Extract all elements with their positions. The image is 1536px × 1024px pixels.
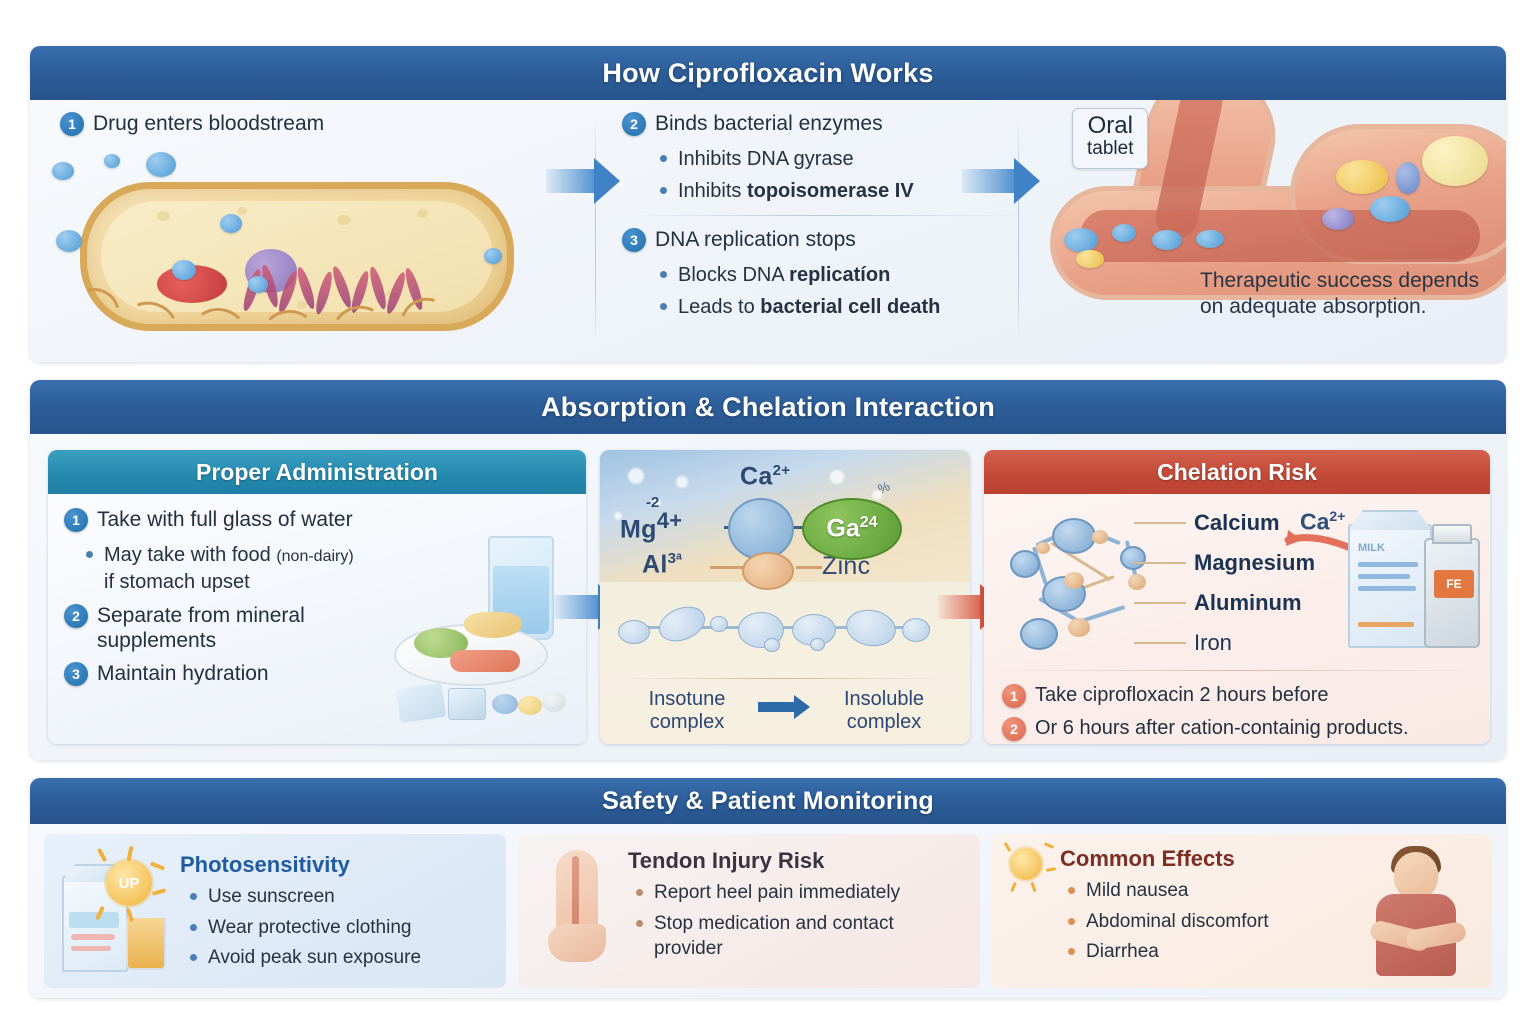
proper-admin-body: 1 Take with full glass of water May take… [48, 494, 586, 744]
drug-particle [56, 230, 82, 252]
pill-icon [492, 694, 518, 714]
chelation-risk-header: Chelation Risk [984, 450, 1490, 494]
tendon-bullets: Report heel pain immediately Stop medica… [636, 880, 966, 967]
panel1-body: 1 Drug enters bloodstream [30, 100, 1506, 362]
card-chelation-risk: Chelation Risk [984, 450, 1490, 744]
proper-admin-title: Proper Administration [196, 459, 438, 486]
arrow-step2-to-gut [962, 158, 1040, 204]
patient-illustration [1364, 842, 1468, 976]
step-2-text: Binds bacterial enzymes [655, 112, 883, 137]
panel-absorption-chelation: Absorption & Chelation Interaction Prope… [30, 380, 1506, 760]
step-2-row: 2 Binds bacterial enzymes [622, 112, 1022, 137]
sun-small-icon [1010, 848, 1042, 880]
card-photosensitivity: UP Photosensitivity Use sunscreen Wear p… [44, 834, 506, 988]
admin-1-text: Take with full glass of water [97, 508, 353, 533]
panel-how-ciprofloxacin-works: How Ciprofloxacin Works 1 Drug enters bl… [30, 46, 1506, 362]
admin-item-3: 3 Maintain hydration [64, 662, 404, 687]
ion-label-aluminum: Al3ᵃ [642, 550, 682, 579]
patient-head [1394, 852, 1438, 900]
tendon-title: Tendon Injury Risk [628, 848, 824, 874]
bacterium-illustration [52, 152, 532, 342]
common-effects-title: Common Effects [1060, 846, 1235, 872]
list-item: May take with food (non-dairy) if stomac… [86, 542, 404, 596]
drug-particle [146, 152, 176, 177]
absorption-caption: Therapeutic success depends on adequate … [1200, 268, 1500, 319]
label-insotune-complex: Insotune complex [622, 688, 752, 734]
list-item: Wear protective clothing [190, 915, 490, 941]
step-3-bullet-list: Blocks DNA replicatíon Leads to bacteria… [622, 262, 1022, 321]
drug-particle [248, 276, 268, 293]
panel3-body: UP Photosensitivity Use sunscreen Wear p… [30, 824, 1506, 998]
chelation-risk-title: Chelation Risk [1157, 459, 1317, 486]
proper-admin-header: Proper Administration [48, 450, 586, 494]
admin-item-2: 2 Separate from mineral supplements [64, 604, 404, 654]
sub-bullet-paren: (non-dairy) [276, 548, 353, 565]
admin-1-badge: 1 [64, 508, 88, 532]
risk-2-text: Or 6 hours after cation-containig produc… [1035, 717, 1409, 741]
admin-3-badge: 3 [64, 662, 88, 686]
arrow-complex-transform [758, 696, 814, 718]
step-1-row: 1 Drug enters bloodstream [60, 112, 580, 137]
step-2-badge: 2 [622, 112, 646, 136]
ion-label-gallium: Ga24 [826, 514, 877, 543]
step-3-text: DNA replication stops [655, 228, 856, 253]
panel1-column-enzymes: 2 Binds bacterial enzymes Inhibits DNA g… [622, 112, 1022, 331]
chelation-diagram-body: Ca2+ -2 Mg4+ Al3ᵃ Zinc Ga24 % [600, 450, 970, 744]
list-item: Leads to bacterial cell death [660, 294, 1022, 321]
photosensitivity-bullets: Use sunscreen Wear protective clothing A… [190, 884, 490, 976]
pill-icon [542, 692, 566, 712]
list-item: Report heel pain immediately [636, 880, 966, 906]
risk-1-text: Take ciprofloxacin 2 hours before [1035, 684, 1329, 708]
panel2-body: Proper Administration 1 Take with full g… [30, 434, 1506, 760]
label-insoluble-complex: Insoluble complex [814, 688, 954, 734]
admin-item-1: 1 Take with full glass of water [64, 508, 404, 533]
proper-admin-list: 1 Take with full glass of water May take… [64, 508, 404, 696]
drug-particle [172, 260, 196, 280]
foot-shape [548, 924, 606, 962]
risk-1-badge: 1 [1002, 684, 1026, 708]
admin-2-text: Separate from mineral supplements [97, 604, 404, 654]
list-item: Avoid peak sun exposure [190, 945, 490, 971]
risk-2-badge: 2 [1002, 717, 1026, 741]
arrow-step1-to-step2 [546, 158, 620, 204]
node-tan [742, 552, 794, 590]
drug-particle [484, 248, 502, 264]
sub-bullet-main: May take with food [104, 544, 271, 566]
callout-line-2: tablet [1087, 138, 1133, 160]
panel1-inner-divider [622, 215, 1022, 216]
bottle-cap-icon [1432, 524, 1472, 544]
milk-carton-icon: MILK [1348, 524, 1432, 648]
step-1-text: Drug enters bloodstream [93, 112, 324, 137]
panel1-column-drug-enters: 1 Drug enters bloodstream [60, 112, 580, 146]
metal-iron: Iron [1194, 630, 1315, 656]
drug-particle [52, 162, 74, 180]
step-1-badge: 1 [60, 112, 84, 136]
panel-safety-monitoring: Safety & Patient Monitoring UP [30, 778, 1506, 998]
metal-aluminum: Aluminum [1194, 590, 1315, 616]
risk-rules-list: 1 Take ciprofloxacin 2 hours before 2 Or… [1002, 684, 1482, 744]
step-3-row: 3 DNA replication stops [622, 228, 1022, 253]
ion-label-calcium: Ca2+ [740, 462, 790, 491]
juice-glass-icon [126, 918, 166, 970]
panel1-title: How Ciprofloxacin Works [602, 58, 933, 89]
list-item: Abdominal discomfort [1068, 909, 1368, 935]
food-water-illustration [392, 528, 582, 738]
photosensitivity-title: Photosensitivity [180, 852, 350, 878]
dna-coil [247, 264, 427, 318]
step-3-badge: 3 [622, 228, 646, 252]
list-item: Use sunscreen [190, 884, 490, 910]
supplement-pack-icon [396, 683, 446, 723]
callout-line-1: Oral [1087, 113, 1133, 138]
sun-icon: UP [106, 860, 152, 906]
admin-3-text: Maintain hydration [97, 662, 269, 687]
chelate-cage-illustration [1006, 512, 1186, 662]
risk-divider [1002, 670, 1472, 671]
panel3-banner: Safety & Patient Monitoring [30, 778, 1506, 824]
carton-label-text: MILK [1358, 542, 1385, 554]
ion-label-magnesium: Mg4+ [620, 508, 682, 544]
sun-icon-text: UP [119, 875, 140, 892]
common-effects-bullets: Mild nausea Abdominal discomfort Diarrhe… [1068, 878, 1368, 970]
list-item: Stop medication and contact provider [636, 911, 966, 962]
panel3-title: Safety & Patient Monitoring [602, 787, 934, 816]
list-item: Diarrhea [1068, 939, 1368, 965]
diagram-divider [622, 678, 942, 679]
list-item: Mild nausea [1068, 878, 1368, 904]
node-central-blue [728, 498, 794, 560]
panel2-title: Absorption & Chelation Interaction [541, 392, 995, 423]
drug-particle [104, 154, 120, 168]
panel1-column-absorption: Oral tablet Therapeutic success depends … [1040, 100, 1506, 362]
risk-rule-2: 2 Or 6 hours after cation-containig prod… [1002, 717, 1482, 741]
risk-rule-1: 1 Take ciprofloxacin 2 hours before [1002, 684, 1482, 708]
oral-tablet-callout: Oral tablet [1072, 108, 1148, 169]
card-common-effects: Common Effects Mild nausea Abdominal dis… [992, 834, 1492, 988]
panel2-banner: Absorption & Chelation Interaction [30, 380, 1506, 434]
leg-icon [542, 850, 610, 970]
admin-2-badge: 2 [64, 604, 88, 628]
card-proper-administration: Proper Administration 1 Take with full g… [48, 450, 586, 744]
admin-sub-bullets: May take with food (non-dairy) if stomac… [64, 542, 404, 596]
panel1-banner: How Ciprofloxacin Works [30, 46, 1506, 100]
chelation-risk-body: Calcium Magnesium Aluminum Iron Ca2+ [984, 494, 1490, 744]
molecule-chain-illustration [614, 600, 944, 658]
tendon-highlight [572, 856, 579, 930]
node-gallium-green: Ga24 [802, 498, 902, 560]
drug-particle [220, 214, 242, 233]
pill-icon [518, 696, 542, 715]
list-item: Blocks DNA replicatíon [660, 262, 1022, 289]
bottle-label-text: FE [1434, 570, 1474, 598]
infographic-page: How Ciprofloxacin Works 1 Drug enters bl… [0, 0, 1536, 1024]
sub-bullet-tail: if stomach upset [104, 571, 250, 593]
card-tendon-injury: Tendon Injury Risk Report heel pain imme… [518, 834, 980, 988]
panel1-divider-1 [595, 118, 596, 344]
card-chelation-diagram: Ca2+ -2 Mg4+ Al3ᵃ Zinc Ga24 % [600, 450, 970, 744]
